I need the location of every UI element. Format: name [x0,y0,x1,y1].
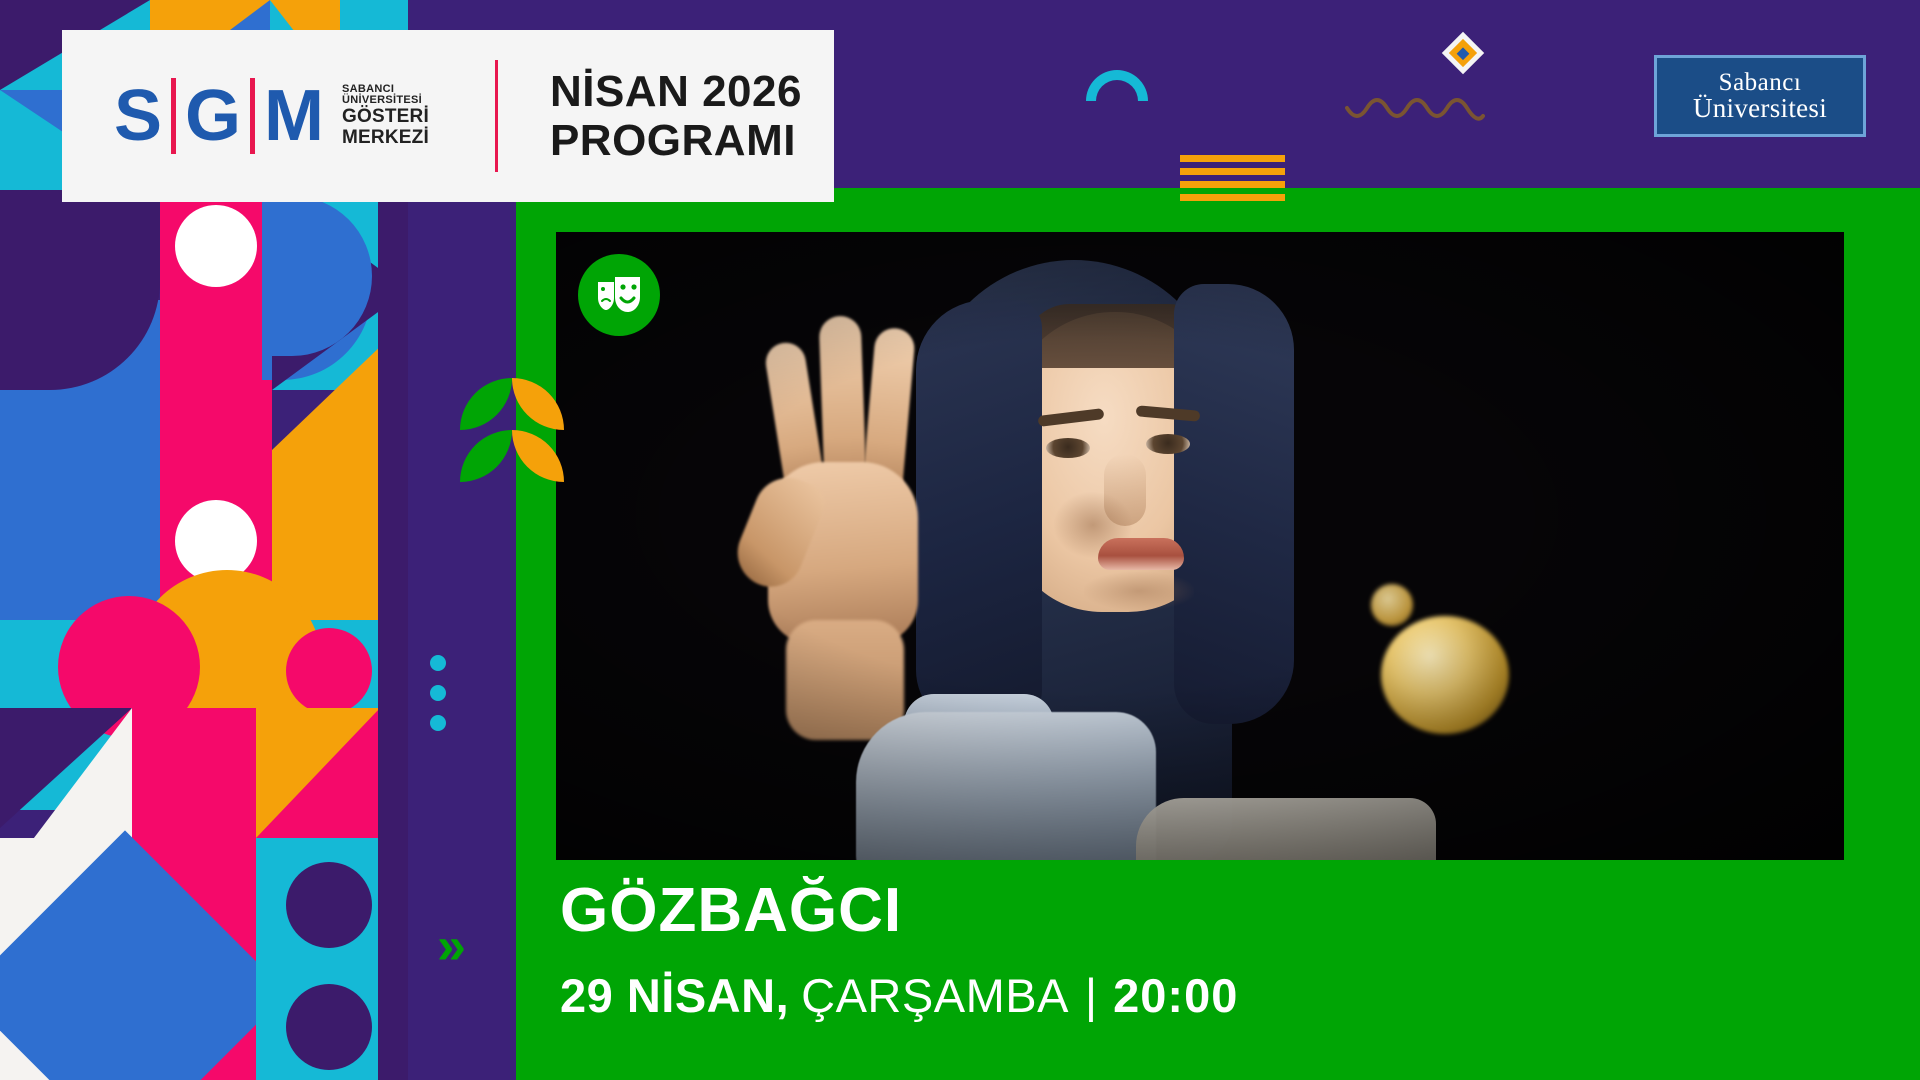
poster-root: S G M SABANCI ÜNİVERSİTESİ GÖSTERİ MERKE… [0,0,1920,1080]
pattern-shape [286,984,372,1070]
theater-masks-glyph [594,274,644,316]
theater-masks-icon [578,254,660,336]
event-date: 29 NİSAN, [560,972,789,1019]
diamond-icon [1442,32,1484,74]
event-meta: 29 NİSAN, ÇARŞAMBA | 20:00 [560,972,1238,1019]
program-title: NİSAN 2026 PROGRAMI [550,67,802,166]
flower-icon [460,378,564,482]
wave-icon [1345,98,1485,132]
logo-divider [495,60,498,172]
sgm-subtitle: SABANCI ÜNİVERSİTESİ GÖSTERİ MERKEZİ [342,84,429,149]
sabanci-logo-line1: Sabancı [1719,70,1802,95]
sgm-letters: S G M [114,78,324,154]
sgm-logo: S G M SABANCI ÜNİVERSİTESİ GÖSTERİ MERKE… [114,78,429,154]
sgm-letter-m: M [264,80,324,152]
sgm-logo-card: S G M SABANCI ÜNİVERSİTESİ GÖSTERİ MERKE… [62,30,834,202]
event-time: 20:00 [1113,972,1238,1019]
pattern-shape [175,205,257,287]
event-text-block: GÖZBAĞCI 29 NİSAN, ÇARŞAMBA | 20:00 [560,880,1238,1019]
sgm-sub-merkezi: MERKEZİ [342,128,429,149]
photo-vignette [556,232,1844,860]
pattern-shape [0,450,160,620]
program-title-line2: PROGRAMI [550,116,802,165]
sabanci-university-logo: Sabancı Üniversitesi [1654,55,1866,137]
pattern-shape [378,190,408,1080]
sgm-letter-g: G [185,80,241,152]
photo-scene [556,232,1844,860]
dots-icon [430,655,446,745]
pattern-shape [160,390,272,450]
event-photo [556,232,1844,860]
event-title: GÖZBAĞCI [560,880,1238,942]
program-title-line1: NİSAN 2026 [550,67,802,116]
sgm-divider-bar [250,78,255,154]
chevron-right-icon: » [437,920,466,972]
sgm-divider-bar [171,78,176,154]
sabanci-logo-line2: Üniversitesi [1693,95,1827,122]
stripes-icon [1180,155,1285,205]
sgm-sub-gosteri: GÖSTERİ [342,107,429,128]
event-separator: | [1085,972,1097,1019]
pattern-shape [286,628,372,714]
arc-icon [1086,70,1148,101]
pattern-shape [0,390,160,450]
sgm-letter-s: S [114,80,162,152]
event-day: ÇARŞAMBA [801,972,1069,1019]
pattern-shape [286,862,372,948]
